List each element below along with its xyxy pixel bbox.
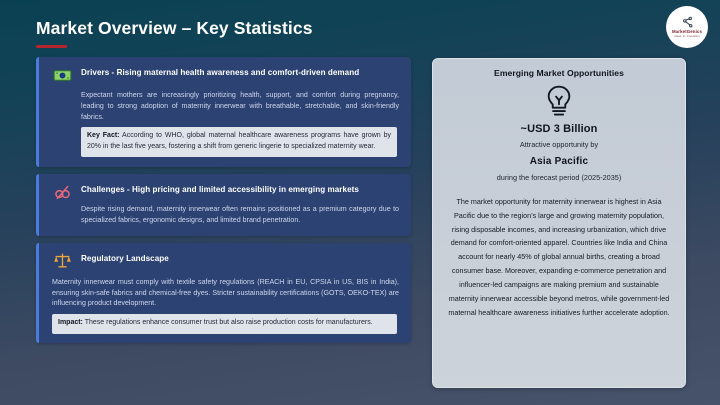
forecast-period: during the forecast period (2025-2035) bbox=[445, 173, 673, 182]
emerging-market-panel: Emerging Market Opportunities ~USD 3 Bil… bbox=[432, 58, 686, 388]
opportunity-value: ~USD 3 Billion bbox=[445, 123, 673, 135]
card-body: Despite rising demand, maternity innerwe… bbox=[81, 204, 399, 226]
note-label: Impact: bbox=[58, 319, 83, 326]
scales-balance-icon bbox=[52, 251, 72, 271]
note-text: These regulations enhance consumer trust… bbox=[83, 319, 373, 326]
opportunity-region: Asia Pacific bbox=[445, 156, 673, 167]
card-title: Regulatory Landscape bbox=[81, 252, 169, 264]
card-header: Challenges - High pricing and limited ac… bbox=[52, 183, 399, 202]
card-challenges: Challenges - High pricing and limited ac… bbox=[36, 174, 411, 236]
page-title: Market Overview – Key Statistics bbox=[36, 18, 313, 39]
impact-note: Impact: These regulations enhance consum… bbox=[52, 314, 397, 334]
network-nodes-icon bbox=[681, 16, 694, 30]
card-regulatory: Regulatory Landscape Maternity innerwear… bbox=[36, 243, 411, 343]
money-banknote-icon bbox=[52, 65, 72, 85]
panel-paragraph: The market opportunity for maternity inn… bbox=[445, 195, 673, 319]
slide-root: MarketGenics Ideas. In. Innovation Marke… bbox=[0, 0, 720, 405]
card-header: Drivers - Rising maternal health awarene… bbox=[52, 66, 399, 85]
panel-title: Emerging Market Opportunities bbox=[445, 68, 673, 78]
card-drivers: Drivers - Rising maternal health awarene… bbox=[36, 57, 411, 167]
card-header: Regulatory Landscape bbox=[52, 252, 399, 271]
opportunity-caption: Attractive opportunity by bbox=[445, 140, 673, 149]
note-label: Key Fact: bbox=[87, 132, 120, 139]
note-text: According to WHO, global maternal health… bbox=[87, 132, 391, 150]
card-body: Maternity innerwear must comply with tex… bbox=[52, 277, 399, 309]
crossed-out-circle-icon bbox=[52, 182, 72, 202]
card-title: Drivers - Rising maternal health awarene… bbox=[81, 66, 359, 78]
brand-logo: MarketGenics Ideas. In. Innovation bbox=[666, 6, 708, 48]
logo-tagline: Ideas. In. Innovation bbox=[674, 35, 699, 38]
key-fact-note: Key Fact: According to WHO, global mater… bbox=[81, 127, 397, 157]
left-column: Drivers - Rising maternal health awarene… bbox=[36, 57, 411, 350]
card-title: Challenges - High pricing and limited ac… bbox=[81, 183, 359, 195]
lightbulb-icon bbox=[544, 85, 574, 117]
card-body: Expectant mothers are increasingly prior… bbox=[81, 90, 399, 122]
title-underline bbox=[36, 45, 67, 48]
